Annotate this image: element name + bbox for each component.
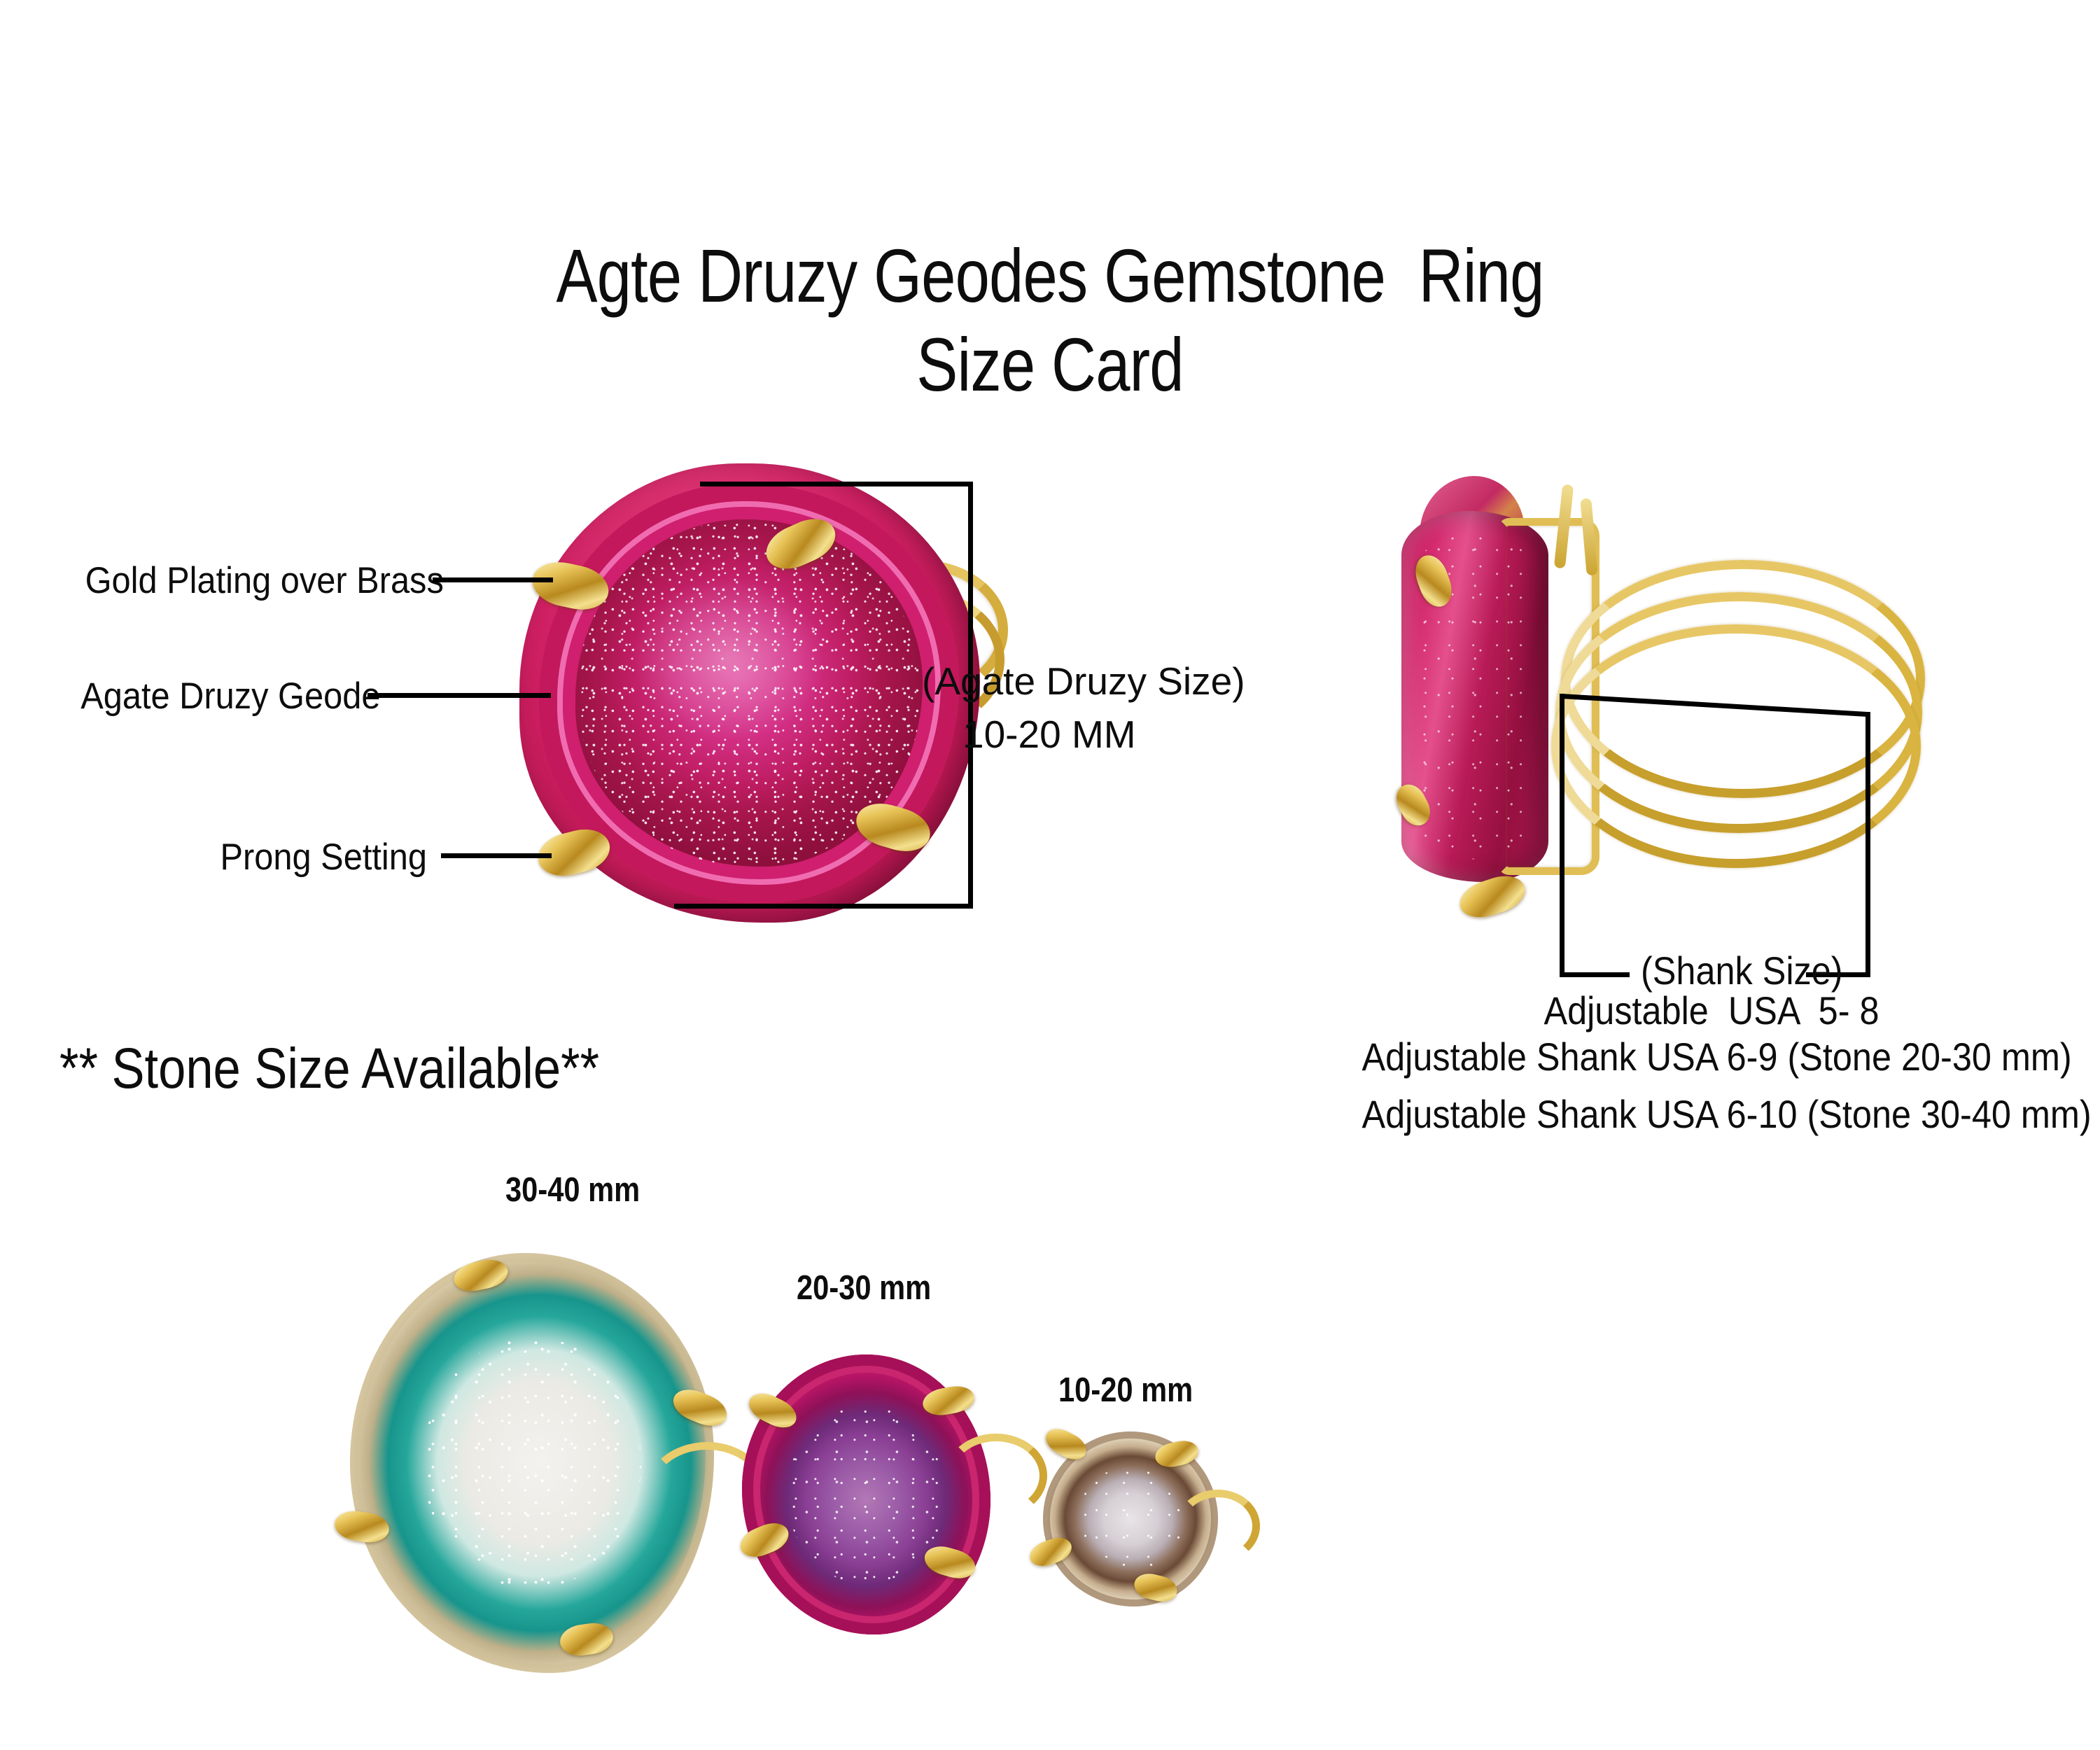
callout-gold-plating-label: Gold Plating over Brass xyxy=(85,560,420,603)
leader-line-agate-druzy-geode xyxy=(367,693,551,698)
shank-bracket-left xyxy=(1560,694,1564,975)
shank-line-3: Adjustable Shank USA 6-10 (Stone 30-40 m… xyxy=(1362,1092,2061,1137)
shank-bracket-right xyxy=(1865,712,1870,975)
leader-line-gold-plating xyxy=(433,577,553,582)
title-line-1: Agte Druzy Geodes Gemstone Ring xyxy=(189,231,1911,320)
shank-bracket-bottom-left xyxy=(1560,972,1630,977)
bracket-arm-bottom xyxy=(674,904,973,909)
stone-size-label-30-40: 30-40 mm xyxy=(505,1170,640,1210)
agate-size-value: 10-20 MM xyxy=(962,713,1136,757)
bracket-arm-top xyxy=(700,482,973,486)
shank-size-heading: (Shank Size) xyxy=(1641,948,1843,993)
stone-size-available-heading: ** Stone Size Available** xyxy=(59,1036,599,1102)
leader-line-prong-setting xyxy=(441,853,552,858)
agate-size-heading: (Agate Druzy Size) xyxy=(922,659,1245,703)
page-title: Agte Druzy Geodes Gemstone Ring Size Car… xyxy=(0,231,2100,409)
stone-size-label-20-30: 20-30 mm xyxy=(797,1268,931,1308)
mini-band-brown xyxy=(1176,1490,1260,1562)
stone-size-label-10-20: 10-20 mm xyxy=(1058,1371,1193,1410)
size-card-canvas: Agte Druzy Geodes Gemstone Ring Size Car… xyxy=(0,0,2100,1750)
callout-agate-druzy-geode-label: Agate Druzy Geode xyxy=(80,675,364,718)
title-line-2: Size Card xyxy=(189,320,1911,409)
shank-line-1: Adjustable USA 5- 8 xyxy=(1362,988,2061,1033)
callout-prong-setting-label: Prong Setting xyxy=(85,836,427,879)
mini-band-purple xyxy=(945,1434,1047,1518)
shank-line-2: Adjustable Shank USA 6-9 (Stone 20-30 mm… xyxy=(1362,1035,2061,1079)
